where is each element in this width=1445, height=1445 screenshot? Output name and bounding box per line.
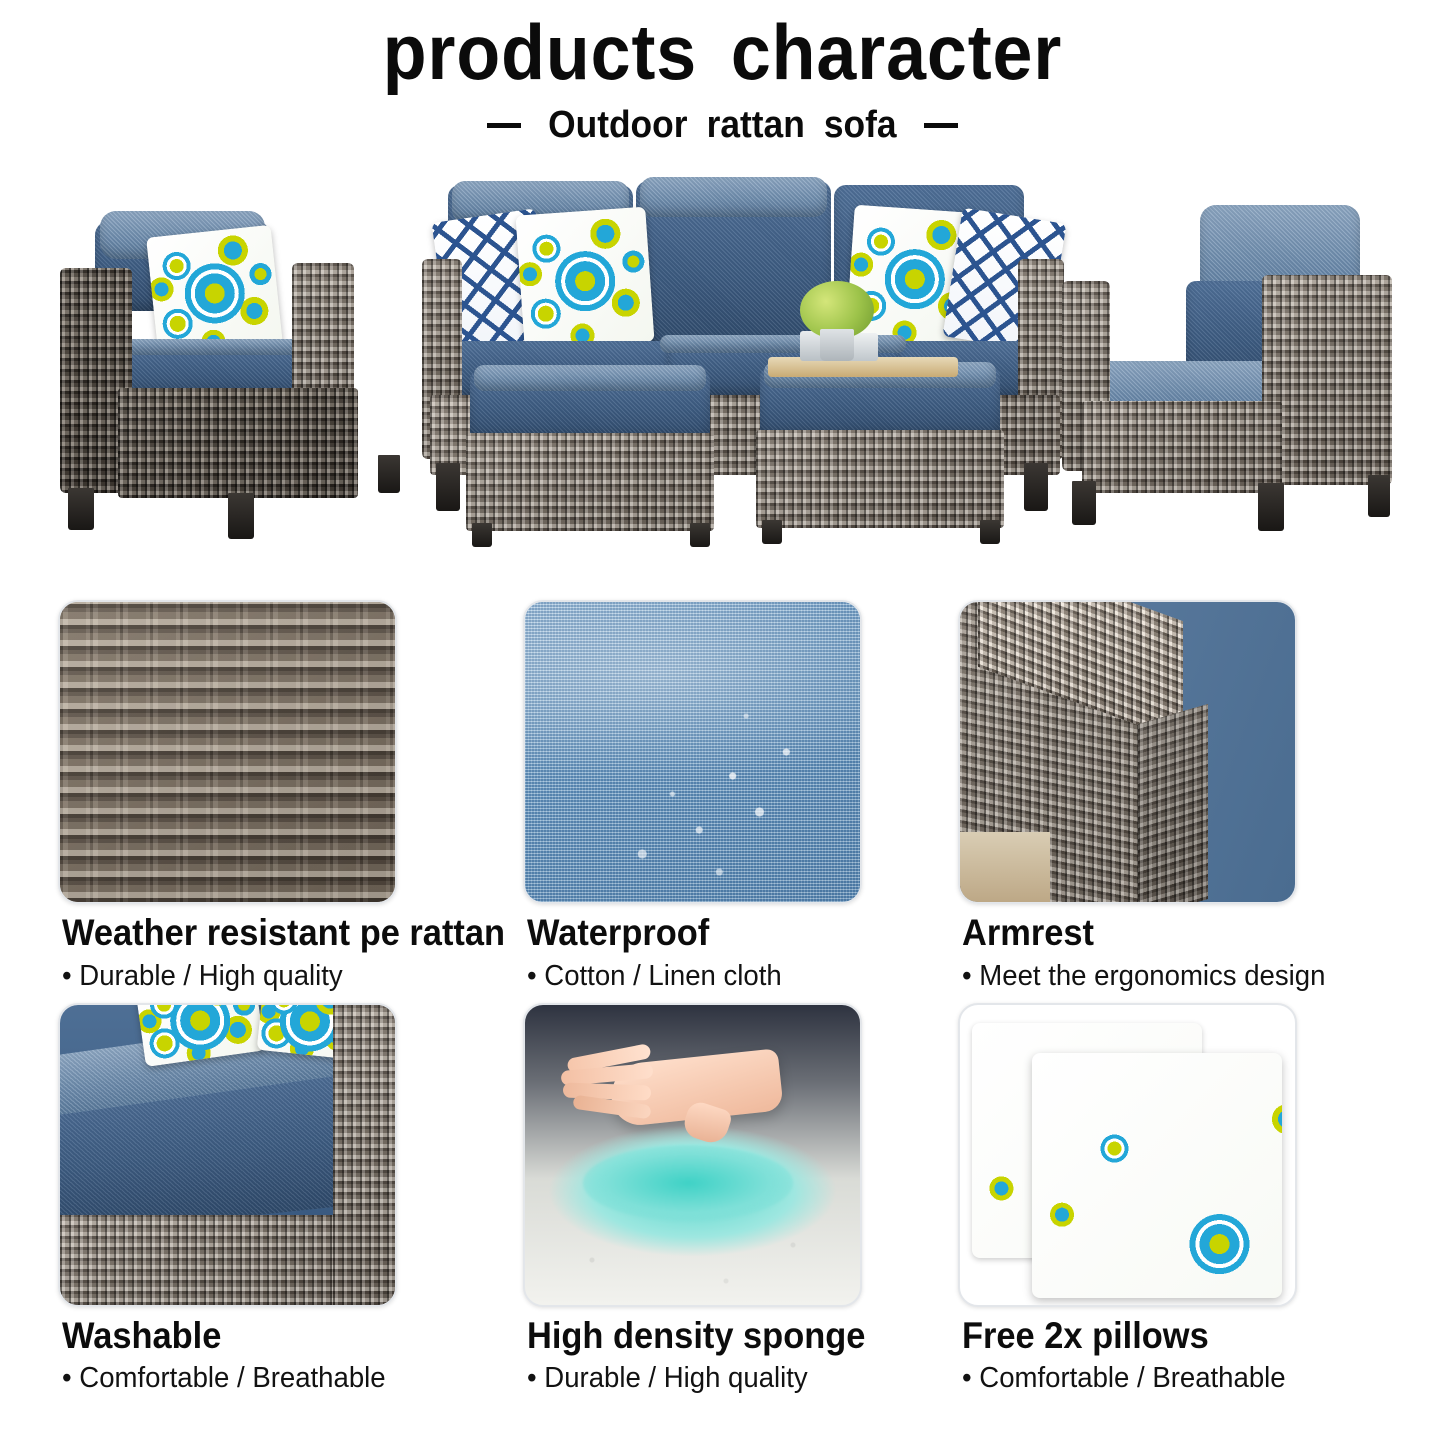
sofa-pillow-suzani-left: [515, 207, 654, 351]
left-chair-throw-pillow: [146, 225, 283, 357]
feature-grid: Weather resistant pe rattan • Durable / …: [0, 600, 1445, 1395]
feature-card-armrest: Armrest • Meet the ergonomics design: [930, 600, 1405, 993]
feature-subtitle: • Durable / High quality: [62, 960, 445, 993]
right-chair-leg-right: [1368, 475, 1390, 517]
ottoman-left-leg-l: [472, 523, 492, 547]
page-subtitle-row: Outdoor rattan sofa: [0, 104, 1445, 147]
washable-wicker-side: [333, 1005, 395, 1305]
hand-pressing-memory-foam-thumbnail: [523, 1003, 862, 1307]
blue-cushion-on-wicker-thumbnail: [58, 1003, 397, 1307]
feature-card-weather-resistant-pe-rattan: Weather resistant pe rattan • Durable / …: [0, 600, 465, 993]
plant-pot: [820, 329, 854, 361]
feature-caption: Armrest • Meet the ergonomics design: [930, 913, 1405, 993]
feature-caption: Washable • Comfortable / Breathable: [0, 1316, 465, 1396]
feature-subtitle: • Comfortable / Breathable: [62, 1362, 445, 1395]
water-droplets-icon: [525, 602, 860, 902]
armrest-front-face: [1138, 704, 1208, 904]
feature-card-washable: Washable • Comfortable / Breathable: [0, 1003, 465, 1396]
ottoman-left-leg-r: [690, 523, 710, 547]
rattan-weave-icon: [60, 602, 395, 902]
right-dash-icon: [924, 123, 958, 128]
feature-subtitle: • Durable / High quality: [527, 1362, 910, 1395]
feature-title: Weather resistant pe rattan: [62, 913, 437, 954]
feature-caption: Waterproof • Cotton / Linen cloth: [465, 913, 930, 993]
rattan-weave-texture-thumbnail: [58, 600, 397, 904]
feature-card-waterproof: Waterproof • Cotton / Linen cloth: [465, 600, 930, 993]
left-chair-leg-front-right: [228, 493, 254, 539]
sofa-leg-right: [1024, 463, 1048, 511]
armrest-floor: [960, 832, 1050, 902]
ottoman-right-leg-r: [980, 520, 1000, 544]
two-suzani-pattern-pillows-thumbnail: [958, 1003, 1297, 1307]
pillow-front: [1032, 1053, 1282, 1298]
page-subtitle: Outdoor rattan sofa: [548, 104, 896, 147]
right-chair-leg-front: [1258, 483, 1284, 531]
foam-gel-impression: [583, 1145, 793, 1221]
feature-subtitle: • Comfortable / Breathable: [962, 1362, 1383, 1395]
ottoman-right-base: [756, 430, 1004, 528]
feature-caption: Weather resistant pe rattan • Durable / …: [0, 913, 465, 993]
feature-title: Washable: [62, 1316, 437, 1357]
feature-title: Free 2x pillows: [962, 1316, 1374, 1357]
left-chair-leg-front-left: [68, 488, 94, 530]
feature-title: High density sponge: [527, 1316, 902, 1357]
feature-subtitle: • Meet the ergonomics design: [962, 960, 1383, 993]
water-beading-fabric-thumbnail: [523, 600, 862, 904]
feature-subtitle: • Cotton / Linen cloth: [527, 960, 910, 993]
feature-title: Waterproof: [527, 913, 902, 954]
right-chair-base: [1082, 401, 1282, 493]
feature-title: Armrest: [962, 913, 1374, 954]
left-chair-base: [118, 388, 358, 498]
ottoman-right-leg-l: [762, 520, 782, 544]
left-dash-icon: [487, 123, 521, 128]
sofa-back-highlight-center: [640, 177, 827, 217]
ottoman-left-cushion-top: [474, 365, 706, 391]
sofa-leg-left: [436, 463, 460, 511]
left-chair-leg-back: [378, 455, 400, 493]
feature-card-free-2x-pillows: Free 2x pillows • Comfortable / Breathab…: [930, 1003, 1405, 1396]
ottoman-left-base: [466, 433, 714, 531]
feature-caption: Free 2x pillows • Comfortable / Breathab…: [930, 1316, 1405, 1396]
page-header: products character Outdoor rattan sofa: [0, 0, 1445, 147]
page-title: products character: [58, 12, 1387, 94]
feature-card-high-density-sponge: High density sponge • Durable / High qua…: [465, 1003, 930, 1396]
woven-armrest-corner-thumbnail: [958, 600, 1297, 904]
left-chair-seat-cushion-top: [113, 339, 322, 355]
right-chair-leg-left: [1072, 481, 1096, 525]
left-chair-right-arm: [292, 263, 354, 398]
hero-product-image: [0, 163, 1445, 583]
feature-caption: High density sponge • Durable / High qua…: [465, 1316, 930, 1396]
